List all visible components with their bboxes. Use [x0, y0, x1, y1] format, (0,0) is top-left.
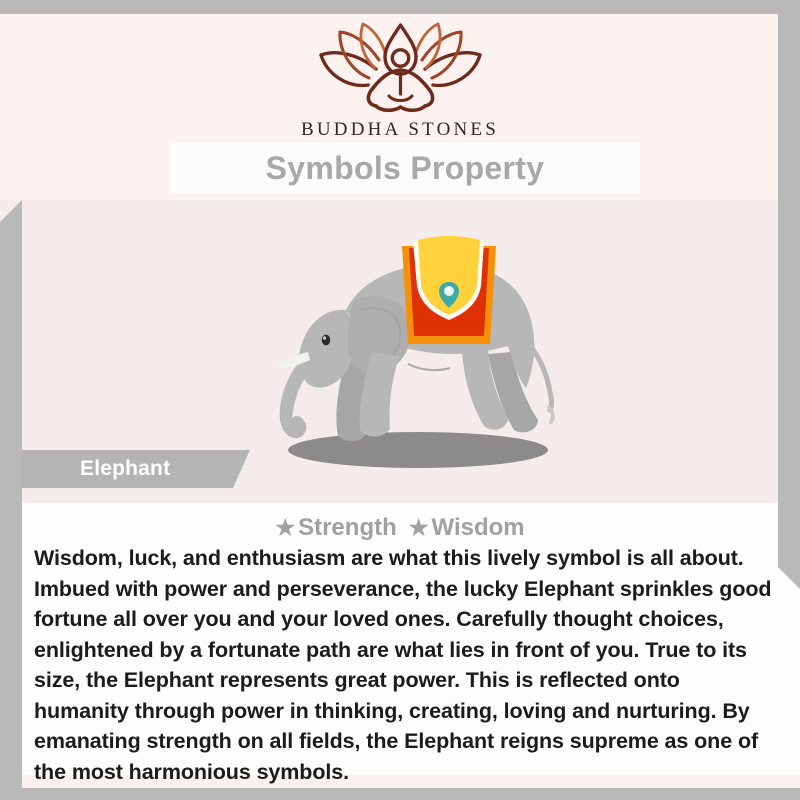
- elephant-shadow: [288, 432, 548, 468]
- symbol-info-card: BUDDHA STONES Symbols Property: [0, 0, 800, 800]
- symbol-name: Elephant: [80, 457, 170, 481]
- brand-logo: BUDDHA STONES: [0, 22, 800, 141]
- star-icon: ★: [275, 515, 295, 540]
- page-title-band: Symbols Property: [170, 142, 640, 194]
- symbol-attributes: ★Strength★Wisdom: [0, 514, 800, 542]
- symbol-name-ribbon: Elephant: [22, 450, 250, 488]
- star-icon: ★: [409, 515, 429, 540]
- attribute-wisdom: ★Wisdom: [409, 514, 525, 542]
- attribute-label: Strength: [298, 514, 397, 541]
- walking-elephant-illustration: [250, 228, 580, 484]
- frame-left-bar: [0, 200, 22, 788]
- frame-bottom-bar: [0, 788, 800, 800]
- attribute-label: Wisdom: [432, 514, 525, 541]
- symbol-description: Wisdom, luck, and enthusiasm are what th…: [34, 543, 774, 787]
- frame-top-bar: [0, 0, 800, 14]
- brand-name: BUDDHA STONES: [0, 119, 800, 141]
- attribute-strength: ★Strength: [275, 514, 396, 542]
- page-title: Symbols Property: [266, 150, 545, 187]
- lotus-meditation-icon: [313, 22, 488, 114]
